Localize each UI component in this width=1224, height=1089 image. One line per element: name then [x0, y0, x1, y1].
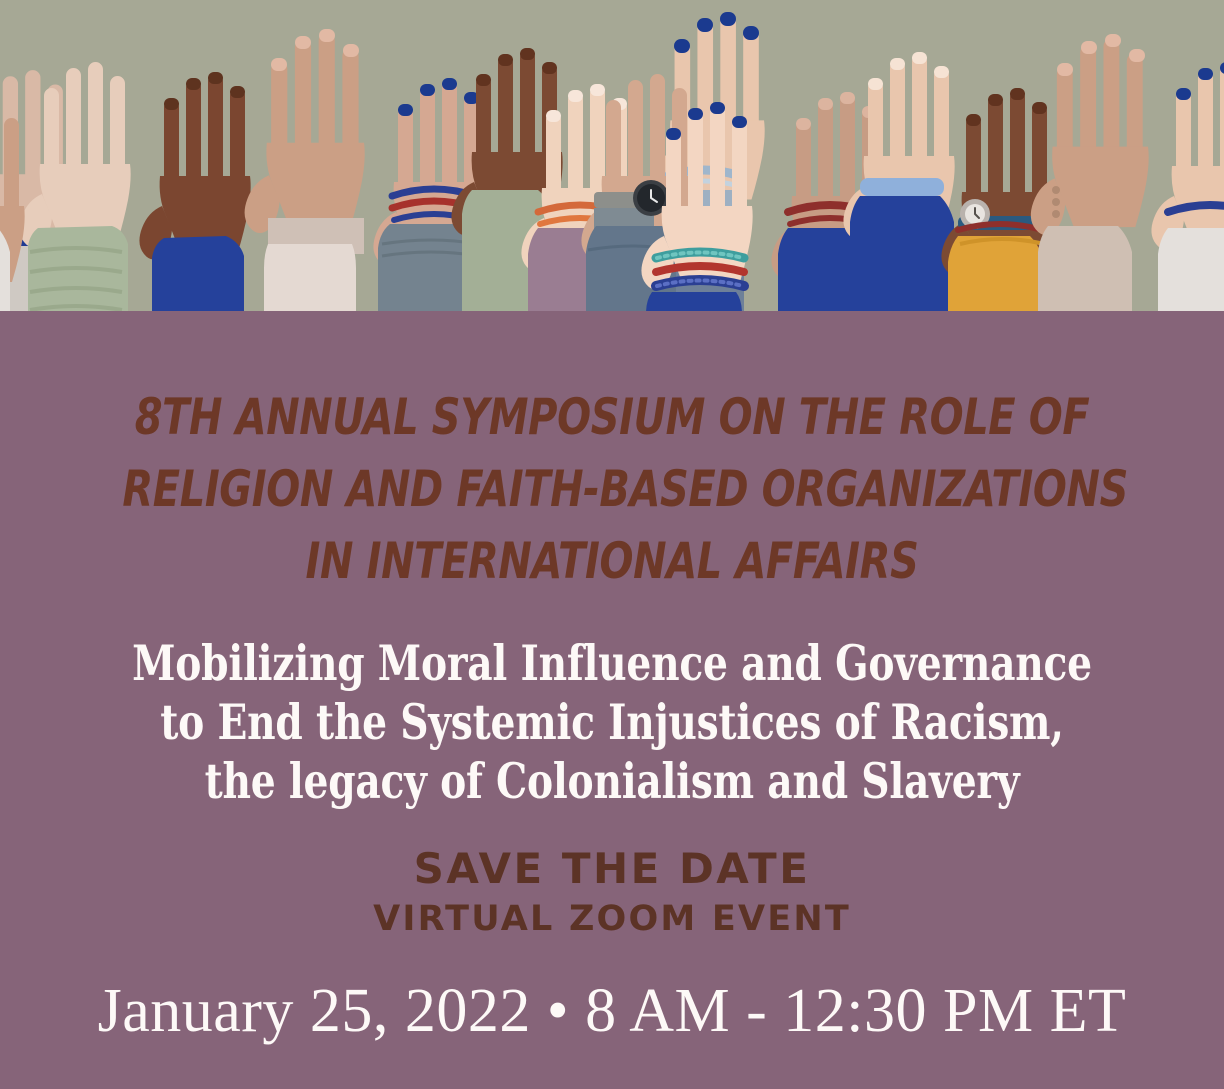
subtitle-line-2: to End the Systemic Injustices of Racism…: [122, 693, 1101, 752]
subtitle-line-3: the legacy of Colonialism and Slavery: [122, 752, 1101, 811]
virtual-zoom-event-label: VIRTUAL ZOOM EVENT: [0, 898, 1224, 940]
event-date-time: January 25, 2022 • 8 AM - 12:30 PM ET: [0, 974, 1224, 1048]
symposium-save-the-date-poster: 8TH ANNUAL SYMPOSIUM ON THE ROLE OF RELI…: [0, 0, 1224, 1089]
save-the-date-block: SAVE THE DATE VIRTUAL ZOOM EVENT: [0, 844, 1224, 940]
title-line-1: 8TH ANNUAL SYMPOSIUM ON THE ROLE OF: [122, 381, 1101, 453]
content-panel: 8TH ANNUAL SYMPOSIUM ON THE ROLE OF RELI…: [0, 311, 1224, 1089]
subtitle-line-1: Mobilizing Moral Influence and Governanc…: [122, 634, 1101, 693]
title-line-2: RELIGION AND FAITH-BASED ORGANIZATIONS: [122, 453, 1101, 525]
page-title: 8TH ANNUAL SYMPOSIUM ON THE ROLE OF RELI…: [122, 381, 1101, 597]
save-the-date-label: SAVE THE DATE: [0, 844, 1224, 894]
raised-hands-illustration: [0, 0, 1224, 311]
title-line-3: IN INTERNATIONAL AFFAIRS: [122, 525, 1101, 597]
page-subtitle: Mobilizing Moral Influence and Governanc…: [122, 634, 1101, 811]
